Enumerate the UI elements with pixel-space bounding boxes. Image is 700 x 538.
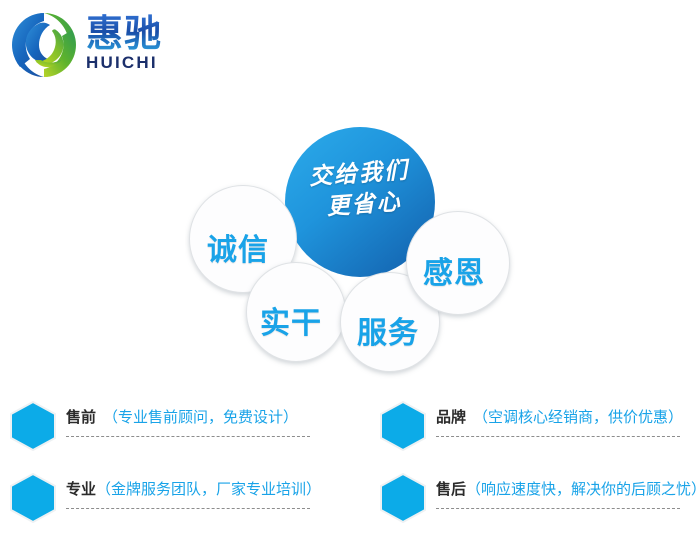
feature-title: 售后 xyxy=(436,480,466,498)
feature-title: 售前 xyxy=(66,408,96,426)
hexagon-icon xyxy=(378,472,428,524)
brand-wordmark: 惠驰 HUICHI xyxy=(86,14,204,74)
petal-label-chengxin: 诚信 xyxy=(207,225,269,269)
brand-name-en: HUICHI xyxy=(86,53,204,72)
feature-item-presale: 售前（专业售前顾问，免费设计） xyxy=(8,400,338,462)
values-circle-diagram: 交给我们 更省心 诚信 实干 服务 感恩 xyxy=(185,120,535,385)
feature-divider xyxy=(66,508,310,509)
feature-item-aftersale: 售后（响应速度快，解决你的后顾之忧） xyxy=(378,472,700,534)
huichi-circular-swoosh-logo xyxy=(8,10,80,80)
feature-text: 专业（金牌服务团队，厂家专业培训） xyxy=(66,472,334,509)
petal-label-fuwu: 服务 xyxy=(357,308,419,352)
feature-title: 专业 xyxy=(66,480,96,498)
feature-item-brand: 品牌（空调核心经销商，供价优惠） xyxy=(378,400,700,462)
feature-text: 售后（响应速度快，解决你的后顾之忧） xyxy=(436,472,700,509)
feature-item-professional: 专业（金牌服务团队，厂家专业培训） xyxy=(8,472,338,534)
feature-desc: （专业售前顾问，免费设计） xyxy=(96,408,298,426)
feature-desc: （响应速度快，解决你的后顾之忧） xyxy=(466,480,700,498)
brand-logo: 惠驰 HUICHI xyxy=(4,4,204,82)
feature-desc: （空调核心经销商，供价优惠） xyxy=(466,408,683,426)
feature-text: 售前（专业售前顾问，免费设计） xyxy=(66,400,334,437)
feature-divider xyxy=(436,436,680,437)
petal-label-shigan: 实干 xyxy=(260,298,322,342)
feature-divider xyxy=(66,436,310,437)
hexagon-icon xyxy=(8,400,58,452)
petal-label-ganen: 感恩 xyxy=(423,248,485,292)
hexagon-icon xyxy=(8,472,58,524)
feature-desc: （金牌服务团队，厂家专业培训） xyxy=(96,480,321,498)
feature-title: 品牌 xyxy=(436,408,466,426)
feature-grid: 售前（专业售前顾问，免费设计） 品牌（空调核心经销商，供价优惠） 专业（ xyxy=(0,396,700,538)
center-slogan-line1: 交给我们 xyxy=(308,157,410,191)
brand-name-cn: 惠驰 xyxy=(86,14,204,54)
center-slogan: 交给我们 更省心 xyxy=(288,153,432,225)
feature-text: 品牌（空调核心经销商，供价优惠） xyxy=(436,400,700,437)
feature-divider xyxy=(436,508,680,509)
hexagon-icon xyxy=(378,400,428,452)
